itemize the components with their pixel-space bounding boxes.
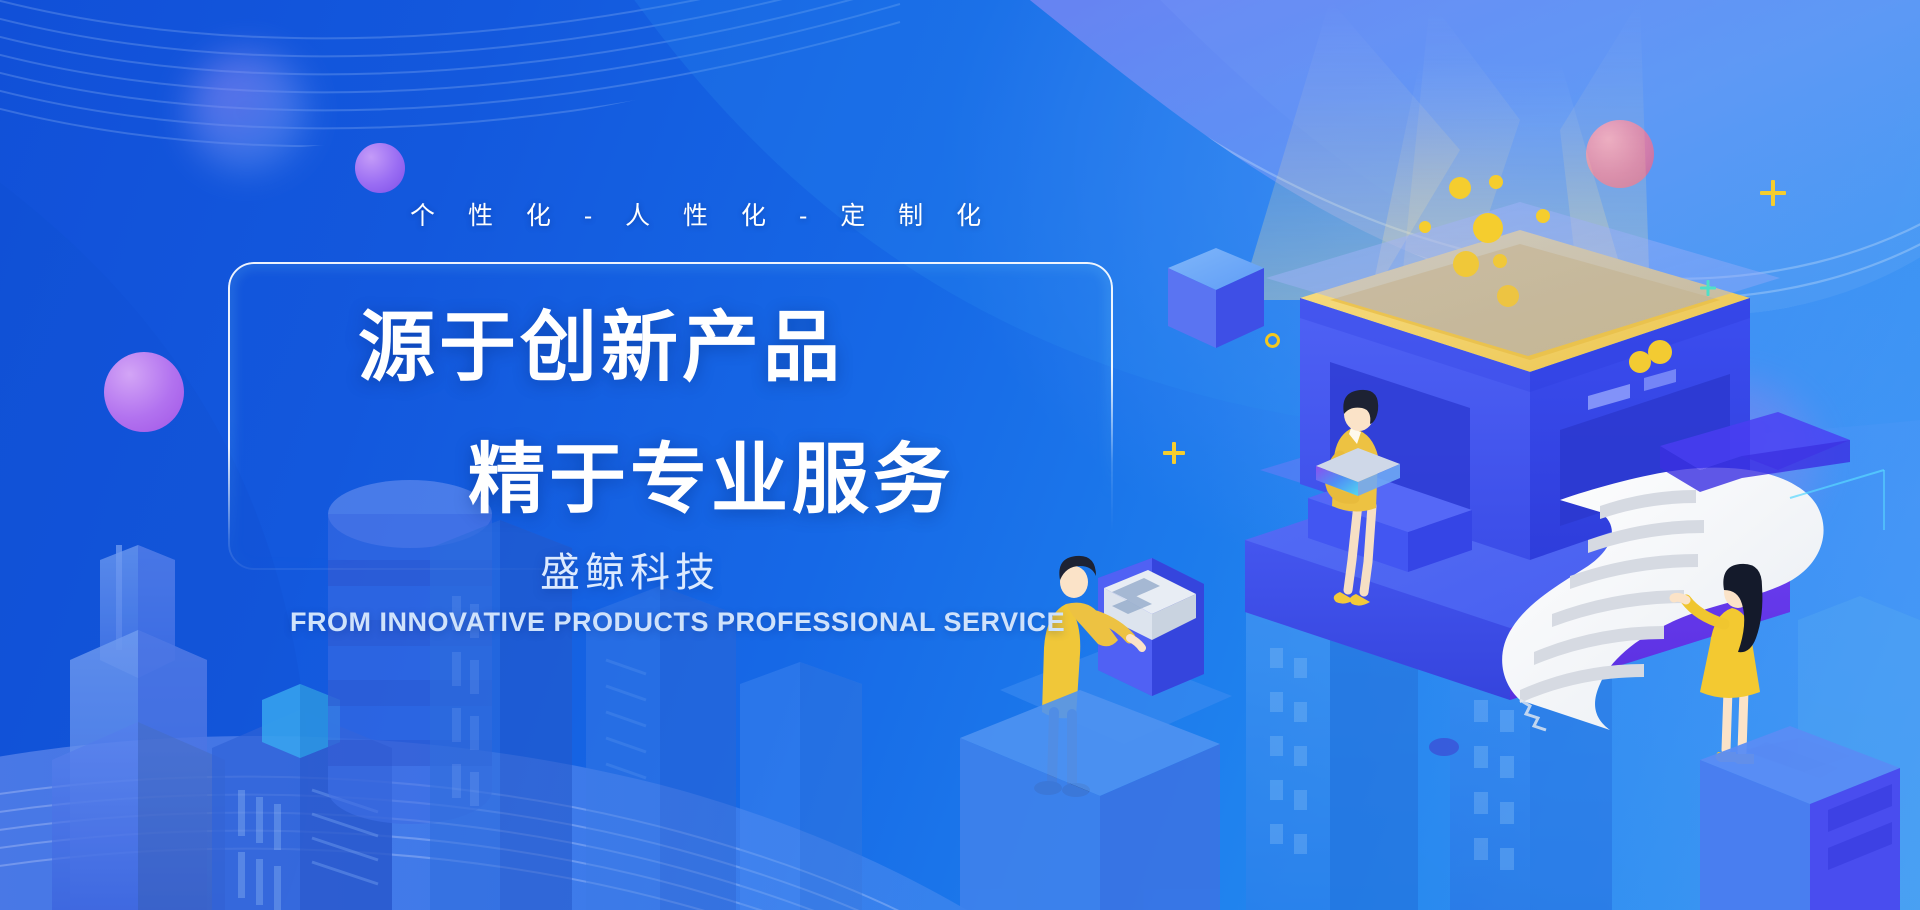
banner-headline-line-2: 精于专业服务 <box>468 418 954 529</box>
banner-tagline: 个 性 化 - 人 性 化 - 定 制 化 <box>410 196 994 232</box>
hero-banner: 个 性 化 - 人 性 化 - 定 制 化 源于创新产品 精于专业服务 盛鲸科技… <box>0 0 1920 910</box>
company-name: 盛鲸科技 <box>540 540 720 598</box>
plus-icon <box>1760 180 1786 206</box>
city-skyline <box>52 480 862 910</box>
cylinder-icon <box>1777 347 1801 419</box>
foreground-block <box>960 690 1220 910</box>
dot-icon <box>1429 738 1459 756</box>
cube-icon <box>1168 248 1264 348</box>
banner-subtitle-english: FROM INNOVATIVE PRODUCTS PROFESSIONAL SE… <box>290 607 1065 638</box>
ring-icon <box>1265 333 1280 348</box>
isometric-printing-machine-scene <box>0 0 1920 910</box>
tiny-plus-icon <box>1700 280 1716 296</box>
banner-headline-line-1: 源于创新产品 <box>358 286 844 397</box>
plus-icon <box>1163 442 1185 464</box>
